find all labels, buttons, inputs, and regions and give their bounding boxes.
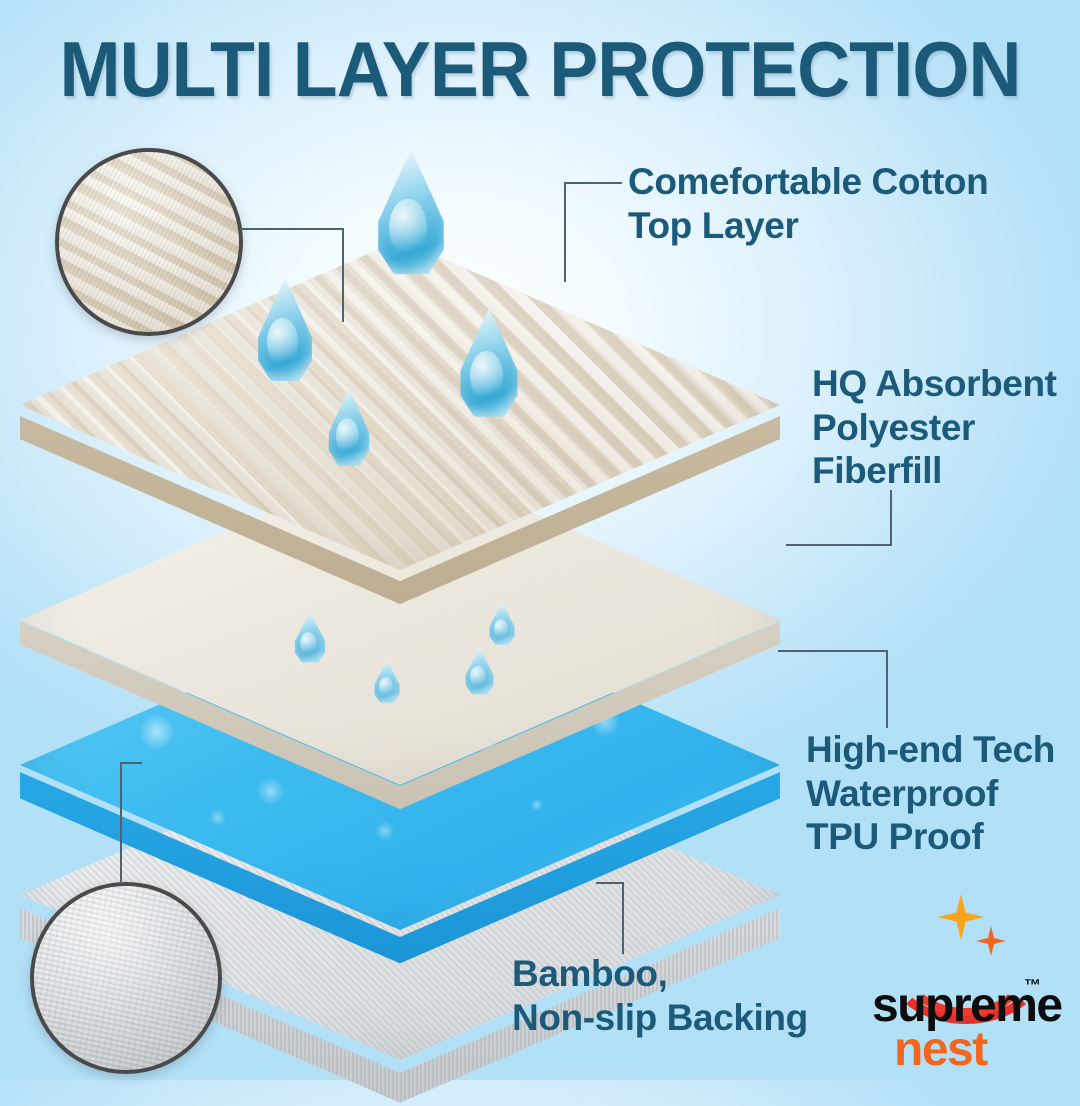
connector-bamboo-label [622,882,624,954]
connector-swatch-bamboo [120,762,142,764]
label-tpu-line1: High-end Tech [806,728,1055,772]
label-cotton: Comefortable Cotton Top Layer [628,160,988,247]
brand-logo: supreme ™ nest [872,900,1062,1070]
label-bamboo-line1: Bamboo, [512,952,808,996]
label-tpu-line2: Waterproof [806,772,1055,816]
connector-bamboo-label [596,882,624,884]
label-fiberfill-line3: Fiberfill [812,449,1057,493]
connector-tpu-label [778,650,888,652]
connector-tpu-label [886,650,888,728]
connector-swatch-bamboo [120,762,122,884]
connector-fiberfill-label [890,490,892,546]
logo-trademark-symbol: ™ [1024,976,1041,996]
connector-swatch-cotton [342,228,344,322]
connector-cotton-label [564,182,566,282]
label-tpu-line3: TPU Proof [806,815,1055,859]
label-bamboo-line2: Non-slip Backing [512,996,808,1040]
label-bamboo: Bamboo, Non-slip Backing [512,952,808,1039]
label-tpu: High-end Tech Waterproof TPU Proof [806,728,1055,859]
connector-swatch-cotton [240,228,344,230]
logo-wordmark-nest: nest [894,1026,987,1074]
label-cotton-line1: Comefortable Cotton [628,160,988,204]
label-cotton-line2: Top Layer [628,204,988,248]
label-fiberfill-line2: Polyester [812,406,1057,450]
label-fiberfill-line1: HQ Absorbent [812,362,1057,406]
label-fiberfill: HQ Absorbent Polyester Fiberfill [812,362,1057,493]
bamboo-swatch-closeup [30,882,222,1074]
cotton-swatch-closeup [55,148,243,336]
connector-fiberfill-label [786,544,892,546]
connector-cotton-label [564,182,622,184]
